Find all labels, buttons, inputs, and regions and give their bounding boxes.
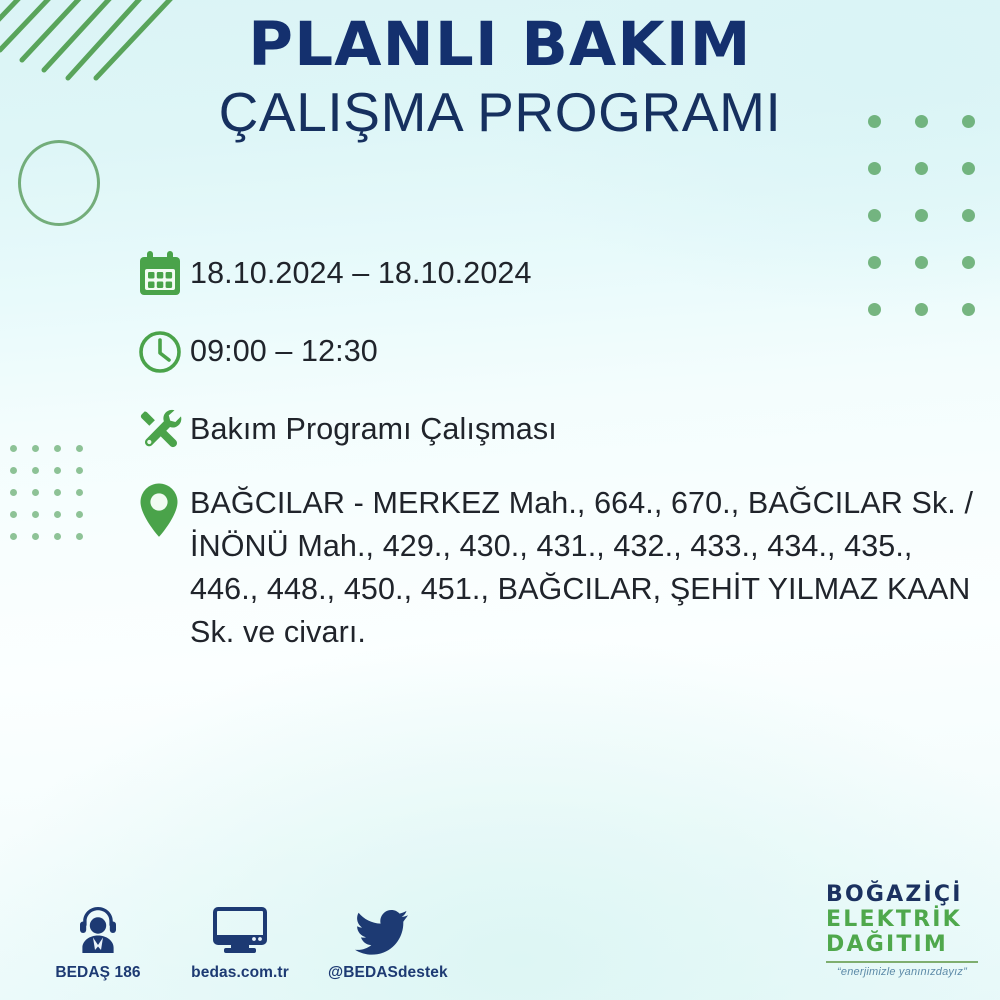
date-range-text: 18.10.2024 – 18.10.2024 [190,248,532,294]
decoration-dot [54,489,61,496]
decoration-dot [915,162,928,175]
page-subtitle: ÇALIŞMA PROGRAMI [0,84,1000,140]
decoration-dot [962,162,975,175]
logo-line-elektrik: ELEKTRİK [826,907,978,932]
decoration-dot [10,511,17,518]
decoration-dot [76,445,83,452]
headset-support-icon [44,901,152,955]
decoration-dot [54,511,61,518]
decoration-dot [10,445,17,452]
poster-header: PLANLI BAKIM ÇALIŞMA PROGRAMI [0,14,1000,140]
decoration-dot [868,209,881,222]
poster-canvas: PLANLI BAKIM ÇALIŞMA PROGRAMI [0,0,1000,1000]
decoration-dot [962,209,975,222]
monitor-icon [186,901,294,955]
twitter-bird-icon [328,901,436,955]
location-pin-icon [138,482,190,536]
contact-website[interactable]: bedas.com.tr [186,901,294,982]
decoration-dot [32,445,39,452]
decoration-dot [868,162,881,175]
work-type-text: Bakım Programı Çalışması [190,404,557,450]
decoration-dot [10,489,17,496]
decoration-dot [32,533,39,540]
footer-contact-bar: BEDAŞ 186 bedas.com.tr @B [44,901,436,982]
dot-grid-left-decoration [10,445,100,540]
decoration-dot [54,533,61,540]
contact-twitter-label: @BEDASdestek [328,964,436,982]
decoration-dot [10,467,17,474]
decoration-dot [32,489,39,496]
logo-tagline: “enerjimizle yanınızdayız” [826,966,978,978]
bedas-logo: BOĞAZİÇİ ELEKTRİK DAĞITIM “enerjimizle y… [826,882,978,978]
info-row-date: 18.10.2024 – 18.10.2024 [138,248,982,300]
address-text: BAĞCILAR - MERKEZ Mah., 664., 670., BAĞC… [190,482,982,654]
clock-icon [138,326,190,378]
logo-line-bogazici: BOĞAZİÇİ [826,882,978,907]
decoration-dot [76,511,83,518]
info-row-address: BAĞCILAR - MERKEZ Mah., 664., 670., BAĞC… [138,482,982,654]
decoration-dot [32,467,39,474]
contact-call-center[interactable]: BEDAŞ 186 [44,901,152,982]
calendar-icon [138,248,190,300]
decoration-dot [32,511,39,518]
decoration-dot [76,533,83,540]
decoration-dot [76,489,83,496]
contact-twitter[interactable]: @BEDASdestek [328,901,436,982]
maintenance-info-list: 18.10.2024 – 18.10.2024 09:00 – 12:30 [138,248,982,654]
page-title: PLANLI BAKIM [0,14,1000,76]
contact-call-center-label: BEDAŞ 186 [44,964,152,982]
logo-divider [826,961,978,963]
info-row-time: 09:00 – 12:30 [138,326,982,378]
time-range-text: 09:00 – 12:30 [190,326,378,372]
circle-outline-decoration [18,140,100,226]
logo-line-dagitim: DAĞITIM [826,932,978,957]
info-row-work-type: Bakım Programı Çalışması [138,404,982,456]
decoration-dot [54,445,61,452]
decoration-dot [76,467,83,474]
decoration-dot [54,467,61,474]
decoration-dot [10,533,17,540]
tools-icon [138,404,190,456]
decoration-dot [915,209,928,222]
contact-website-label: bedas.com.tr [186,964,294,982]
